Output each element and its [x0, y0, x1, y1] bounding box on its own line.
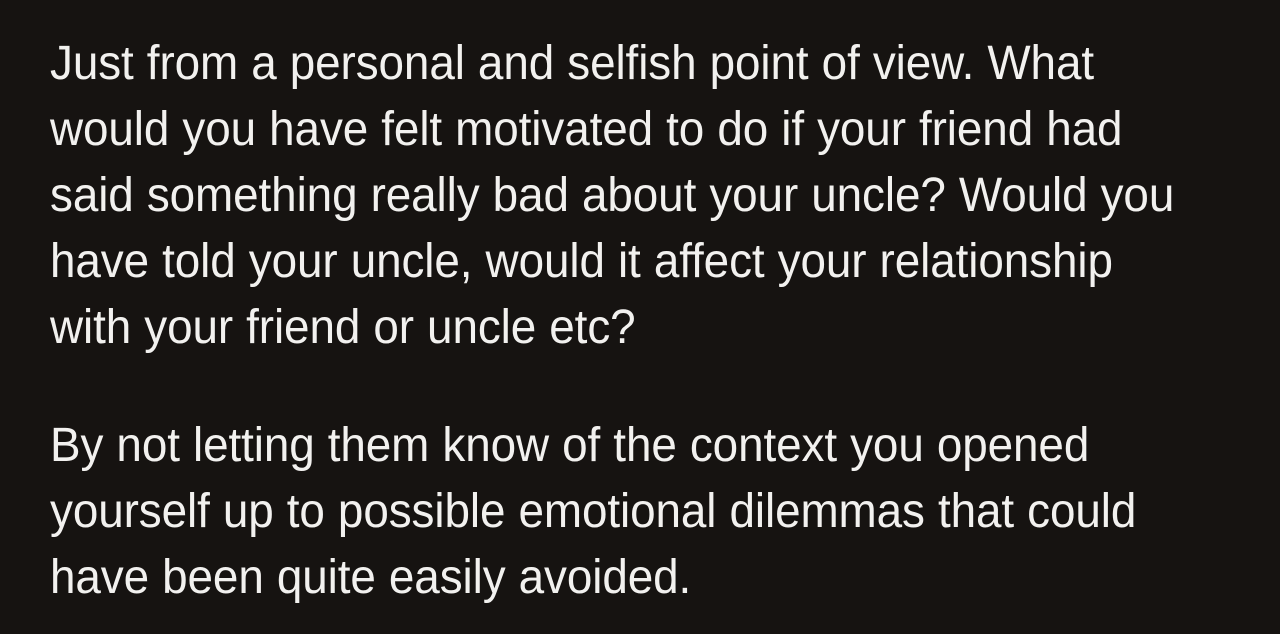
- paragraph-2: By not letting them know of the context …: [50, 413, 1191, 611]
- article-body: Just from a personal and selfish point o…: [50, 0, 1245, 611]
- paragraph-1: Just from a personal and selfish point o…: [50, 31, 1191, 361]
- reader-surface: Just from a personal and selfish point o…: [0, 0, 1280, 634]
